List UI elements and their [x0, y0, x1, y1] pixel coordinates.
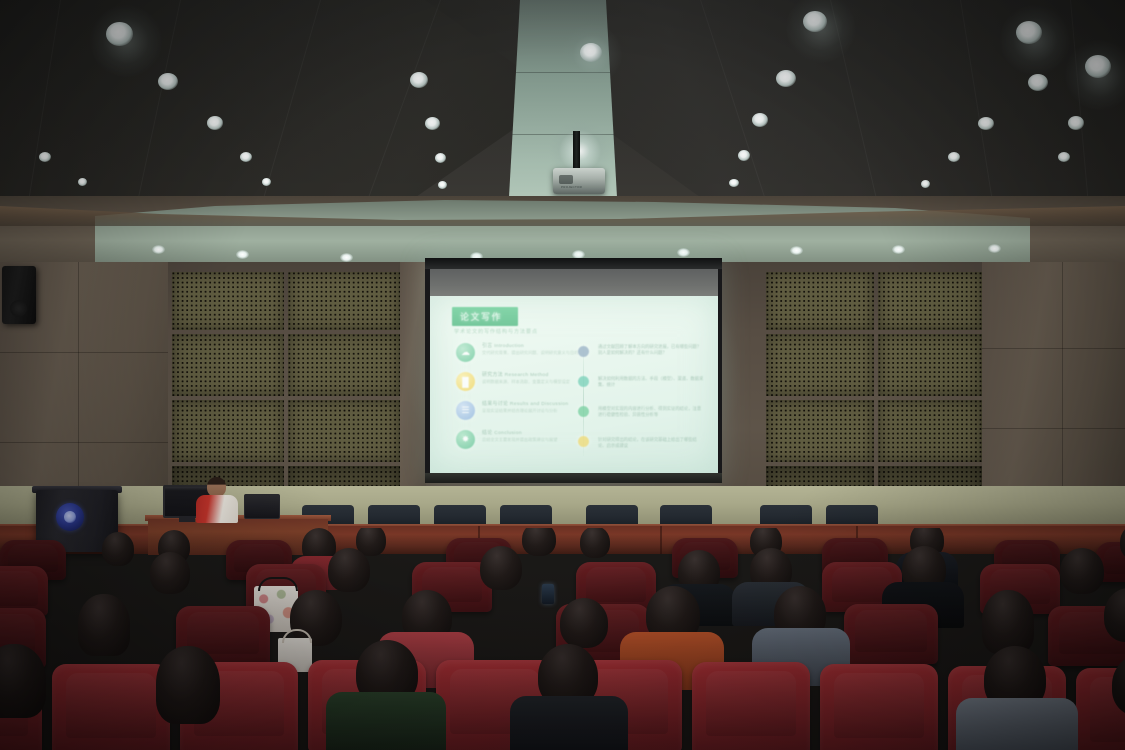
downlight: [1016, 21, 1042, 44]
presenter-jacket: [196, 495, 238, 523]
audience-person: [78, 594, 130, 656]
downlight: [262, 178, 271, 186]
downlight: [438, 181, 447, 189]
presenter-speaker: [196, 477, 238, 521]
downlight: [752, 113, 768, 127]
downlight: [78, 178, 87, 186]
seat[interactable]: [844, 604, 938, 664]
slide-row-label: 结果与讨论 Results and Discussion: [482, 400, 610, 407]
slide-subtitle: 学术论文的写作结构与方法要点: [454, 328, 538, 335]
screen-masking-band: [430, 269, 718, 296]
downlight: [1068, 116, 1084, 130]
audience-person: [1060, 548, 1104, 594]
slide-row-label: 研究方法 Research Method: [482, 371, 610, 378]
soffit-downlight: [677, 248, 690, 257]
audience-person: [328, 548, 370, 592]
wall-tile-line: [982, 348, 1125, 349]
soffit-downlight: [152, 245, 165, 254]
seat[interactable]: [820, 664, 938, 750]
wall-tile-line: [982, 428, 1125, 429]
acoustic-panel: [766, 400, 874, 462]
audience-person: [150, 552, 190, 594]
downlight: [207, 116, 223, 130]
acoustic-panel: [172, 272, 284, 330]
soffit-downlight: [236, 250, 249, 259]
audience-person: [156, 646, 220, 724]
acoustic-panel: [878, 334, 982, 396]
downlight: [803, 11, 827, 32]
timeline-dot: [578, 406, 589, 417]
downlight: [425, 117, 440, 130]
downlight: [1058, 152, 1070, 162]
slide-title: 论文写作: [452, 307, 518, 326]
audience-person: [0, 644, 46, 718]
timeline-dot: [578, 346, 589, 357]
slide-row-desc: 总结全文主要发现并提出政策建议与展望: [482, 437, 612, 442]
acoustic-panel: [878, 400, 982, 462]
gear-icon: ✸: [456, 430, 475, 449]
projector-mount-pole: [573, 131, 580, 173]
audience-seating: [0, 528, 1125, 750]
downlight: [1028, 74, 1048, 91]
downlight: [410, 72, 428, 88]
downlight: [921, 180, 930, 188]
audience-person: [560, 598, 608, 648]
acoustic-panel: [288, 272, 400, 330]
screen-bottom-bar: [425, 473, 722, 483]
wall-tile-line: [0, 442, 168, 443]
presenter-head: [207, 477, 226, 497]
wall-tile-line: [0, 352, 168, 353]
wall-speaker: [2, 266, 36, 324]
audience-person: [580, 528, 610, 558]
audience-body: [956, 698, 1078, 750]
projector: PROJECTOR: [553, 168, 605, 194]
audience-body: [326, 692, 446, 750]
soffit-downlight: [988, 244, 1001, 253]
downlight: [106, 22, 133, 46]
downlight: [948, 152, 960, 162]
downlight: [738, 150, 750, 161]
audience-person: [480, 546, 522, 590]
acoustic-panel: [288, 400, 400, 462]
audience-body: [510, 696, 628, 750]
slide-row-label: 引言 Introduction: [482, 342, 610, 349]
downlight: [435, 153, 446, 163]
presenter-laptop[interactable]: [244, 494, 280, 519]
timeline-note: 针对研究得出的结论，在该研究基础上给出了哪些结论、启示或建议: [598, 437, 704, 448]
audience-person: [1120, 528, 1125, 560]
acoustic-panel: [288, 334, 400, 396]
downlight: [1085, 55, 1111, 78]
projector-label: PROJECTOR: [561, 185, 582, 189]
audience-person: [982, 590, 1034, 654]
acoustic-panel: [766, 272, 874, 330]
acoustic-panel: [172, 400, 284, 462]
audience-person: [1104, 588, 1125, 642]
timeline-dot: [578, 376, 589, 387]
slide-row-desc: 说明数据来源、样本选取、变量定义与模型设定: [482, 379, 612, 384]
soffit-downlight: [892, 245, 905, 254]
downlight: [776, 70, 796, 87]
soffit-downlight: [790, 246, 803, 255]
university-emblem: [56, 503, 84, 531]
timeline-note: 解决如何利用数据的方法、手段（模型）、渠道、数据采集、统计: [598, 376, 704, 387]
timeline-dot: [578, 436, 589, 447]
soffit-downlight: [340, 253, 353, 262]
downlight: [978, 117, 994, 130]
downlight: [240, 152, 252, 162]
slide-row-desc: 呈现实证结果并结合理论展开讨论与分析: [482, 408, 612, 413]
acoustic-panel: [878, 272, 982, 330]
downlight: [729, 179, 739, 187]
acoustic-panel: [766, 334, 874, 396]
bar-chart-icon: █: [456, 372, 475, 391]
slide-row-desc: 交代研究背景、提出研究问题、说明研究意义与目的: [482, 350, 612, 355]
timeline-note: 用模型对实现的内容进行分析、得到实证的结论，注意进行稳健性检验、异质性分析等: [598, 406, 704, 417]
soffit-inner-face: [95, 200, 1030, 266]
timeline-note: 通过文献回顾了解本方向的研究进展，已有哪些问题？别人是如何解决的？还有什么问题？: [598, 344, 704, 355]
lecture-hall-scene: PROJECTOR 论文: [0, 0, 1125, 750]
audience-person: [1112, 654, 1125, 716]
audience-person: [102, 532, 134, 566]
downlight: [39, 152, 51, 162]
document-icon: ☰: [456, 401, 475, 420]
screen-valance: [425, 258, 722, 269]
cloud-upload-icon: ☁: [456, 343, 475, 362]
slide-row-label: 结论 Conclusion: [482, 429, 610, 436]
smartphone-recording[interactable]: [542, 584, 554, 604]
downlight: [158, 73, 178, 90]
acoustic-panel: [172, 334, 284, 396]
slide: 论文写作 学术论文的写作结构与方法要点 ☁ 引言 Introduction 交代…: [430, 296, 718, 473]
audience-person: [522, 528, 556, 556]
projection-screen-surface: 论文写作 学术论文的写作结构与方法要点 ☁ 引言 Introduction 交代…: [430, 296, 718, 473]
seat[interactable]: [52, 664, 170, 750]
downlight: [580, 43, 602, 62]
seat[interactable]: [692, 662, 810, 750]
